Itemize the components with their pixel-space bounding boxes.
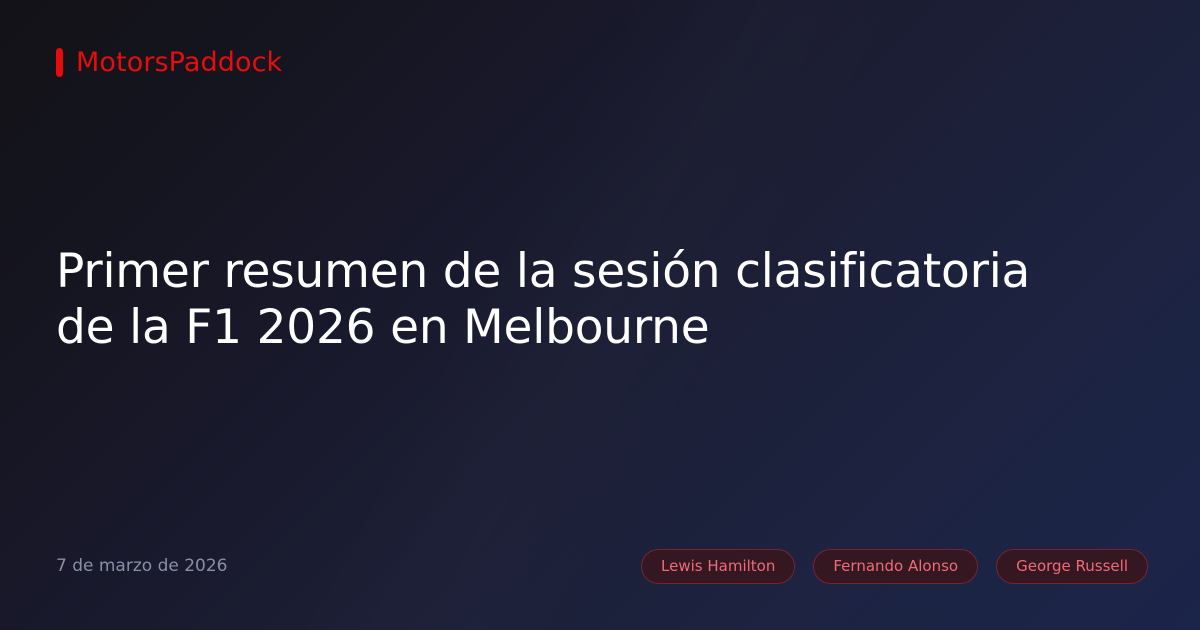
publish-date: 7 de marzo de 2026 [56,558,228,575]
tag-chip[interactable]: Fernando Alonso [813,549,978,584]
headline-section: Primer resumen de la sesión clasificator… [0,51,1200,549]
tag-chip[interactable]: Lewis Hamilton [641,549,795,584]
tag-list: Lewis Hamilton Fernando Alonso George Ru… [641,549,1148,584]
card-footer: 7 de marzo de 2026 Lewis Hamilton Fernan… [0,549,1200,630]
page-title: Primer resumen de la sesión clasificator… [56,244,1066,356]
social-share-card: MotorsPaddock Primer resumen de la sesió… [0,0,1200,630]
tag-chip[interactable]: George Russell [996,549,1148,584]
